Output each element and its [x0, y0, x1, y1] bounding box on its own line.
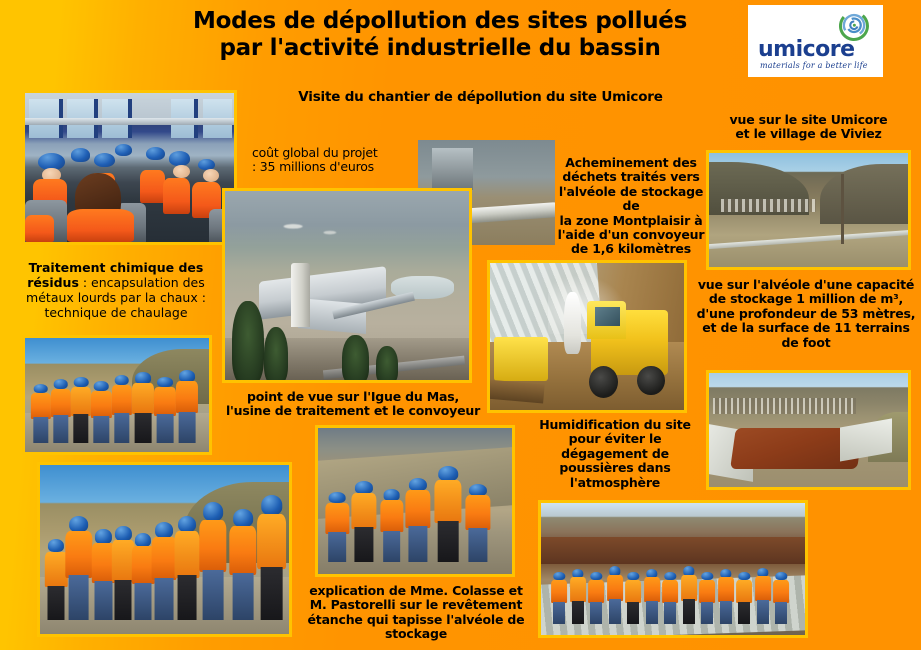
- caption-traitement-chimique: Traitement chimique des résidus : encaps…: [12, 260, 220, 320]
- photo-treatment-plant: [222, 188, 472, 383]
- photo-group-helmets-bottom-left: [37, 462, 292, 637]
- photo-group-on-liner: [538, 500, 808, 638]
- umicore-logo: umicore materials for a better life: [748, 5, 883, 77]
- caption-vue-site: vue sur le site Umicore et le village de…: [706, 113, 911, 142]
- photo-group-helmets-left: [22, 335, 212, 455]
- caption-explication: explication de Mme. Colasse et M. Pastor…: [300, 584, 532, 642]
- caption-cost: coût global du projet : 35 millions d'eu…: [252, 146, 422, 175]
- photo-bus-interior: [22, 90, 237, 245]
- photo-alveole-cell: [706, 370, 911, 490]
- caption-humidification: Humidification du site pour éviter le dé…: [530, 418, 700, 490]
- umicore-wordmark: umicore: [758, 39, 855, 61]
- photo-explication: [315, 425, 515, 577]
- caption-vue-alveole: vue sur l'alvéole d'une capacité de stoc…: [692, 278, 920, 350]
- caption-acheminement: Acheminement des déchets traités vers l'…: [552, 156, 710, 257]
- photo-dump-truck: [487, 260, 687, 413]
- caption-point-de-vue: point de vue sur l'Igue du Mas, l'usine …: [222, 390, 484, 419]
- page-title: Modes de dépollution des sites pollués p…: [160, 8, 720, 62]
- poster-canvas: Modes de dépollution des sites pollués p…: [0, 0, 921, 650]
- subtitle: Visite du chantier de dépollution du sit…: [268, 90, 693, 106]
- photo-village-viviez: [706, 150, 911, 270]
- umicore-tagline: materials for a better life: [760, 61, 868, 70]
